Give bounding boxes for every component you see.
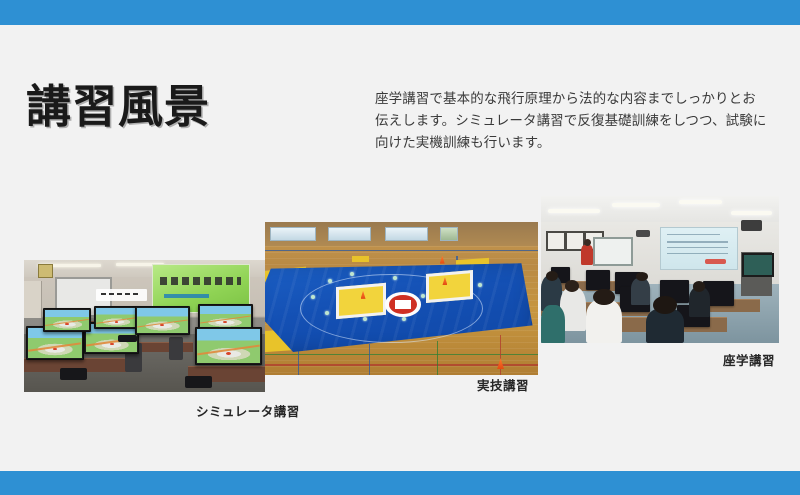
lec-ceiling-light bbox=[612, 203, 660, 207]
sim-wall-frame bbox=[38, 264, 52, 278]
lec-ceiling-light bbox=[548, 209, 600, 213]
sim-wall-logo bbox=[96, 289, 147, 301]
lec-screen-highlight bbox=[705, 259, 726, 264]
lec-screen-row bbox=[667, 247, 728, 249]
lec-monitor bbox=[586, 270, 610, 291]
slide-canvas: 講習風景 座学講習で基本的な飛行原理から法的な内容までしっかりとお伝えします。シ… bbox=[0, 0, 800, 495]
gym-doorway bbox=[440, 227, 458, 241]
lec-wall-plaque bbox=[546, 231, 567, 251]
lec-student bbox=[541, 305, 565, 343]
lec-screen-row bbox=[667, 234, 720, 236]
lec-student-head bbox=[546, 271, 558, 281]
sim-monitor-screen bbox=[200, 306, 251, 329]
gym-landing-pad bbox=[426, 270, 473, 303]
sim-monitor bbox=[94, 306, 139, 329]
photo-practical-field bbox=[265, 222, 538, 375]
sim-door bbox=[24, 281, 42, 318]
gym-window bbox=[270, 227, 316, 241]
gym-yellow-tarp bbox=[352, 256, 368, 262]
sim-monitor-screen bbox=[197, 329, 260, 363]
caption-lecture: 座学講習 bbox=[723, 350, 775, 369]
gym-window bbox=[328, 227, 371, 241]
sim-monitor bbox=[43, 308, 91, 332]
sim-monitor-screen bbox=[137, 308, 188, 332]
lec-ceiling-light bbox=[679, 200, 722, 204]
gym-marker-dot bbox=[421, 294, 425, 298]
lec-ceiling-light bbox=[731, 211, 771, 215]
lec-projector bbox=[636, 230, 650, 237]
top-accent-bar bbox=[0, 0, 800, 25]
lec-student bbox=[586, 299, 622, 343]
photo-lecture-classroom bbox=[541, 196, 779, 343]
lec-student bbox=[689, 287, 710, 316]
gym-window bbox=[385, 227, 428, 241]
gym-marker-dot bbox=[393, 276, 397, 280]
sim-monitor bbox=[135, 306, 190, 334]
lec-instructor-body bbox=[581, 245, 593, 266]
sim-controller bbox=[60, 368, 87, 380]
lead-paragraph: 座学講習で基本的な飛行原理から法的な内容までしっかりとお伝えします。シミュレータ… bbox=[375, 88, 767, 154]
caption-simulator: シミュレータ講習 bbox=[196, 401, 300, 420]
photo-simulator-classroom bbox=[24, 260, 265, 392]
gym-helipad-marker bbox=[385, 292, 420, 316]
lec-student-head bbox=[565, 280, 579, 292]
lec-student-head bbox=[693, 281, 705, 291]
lec-screen-row bbox=[667, 241, 728, 243]
gym-marker-dot bbox=[328, 279, 332, 283]
gym-marker-dot bbox=[402, 317, 406, 321]
sim-controller bbox=[185, 376, 212, 388]
sim-chair bbox=[169, 337, 183, 361]
bottom-accent-bar bbox=[0, 471, 800, 495]
sim-controller bbox=[118, 335, 137, 342]
lec-student-head bbox=[653, 296, 677, 314]
sim-monitor-screen bbox=[45, 310, 89, 330]
lec-student bbox=[631, 278, 650, 304]
lec-projector bbox=[741, 220, 762, 232]
gym-landing-pad bbox=[336, 283, 386, 319]
gym-marker-dot bbox=[325, 311, 329, 315]
sim-screen-headline bbox=[160, 277, 241, 285]
lec-equipment-cart bbox=[741, 252, 772, 296]
lec-whiteboard bbox=[593, 237, 633, 266]
lec-student-head bbox=[593, 289, 614, 305]
page-title: 講習風景 bbox=[26, 82, 210, 132]
sim-monitor bbox=[195, 327, 262, 365]
lec-screen-row bbox=[667, 253, 728, 255]
caption-practical: 実技講習 bbox=[477, 375, 529, 394]
sim-monitor-screen bbox=[28, 328, 81, 358]
sim-screen-subtext bbox=[164, 294, 208, 297]
lec-projection-screen bbox=[660, 227, 738, 270]
sim-monitor-screen bbox=[96, 308, 137, 327]
